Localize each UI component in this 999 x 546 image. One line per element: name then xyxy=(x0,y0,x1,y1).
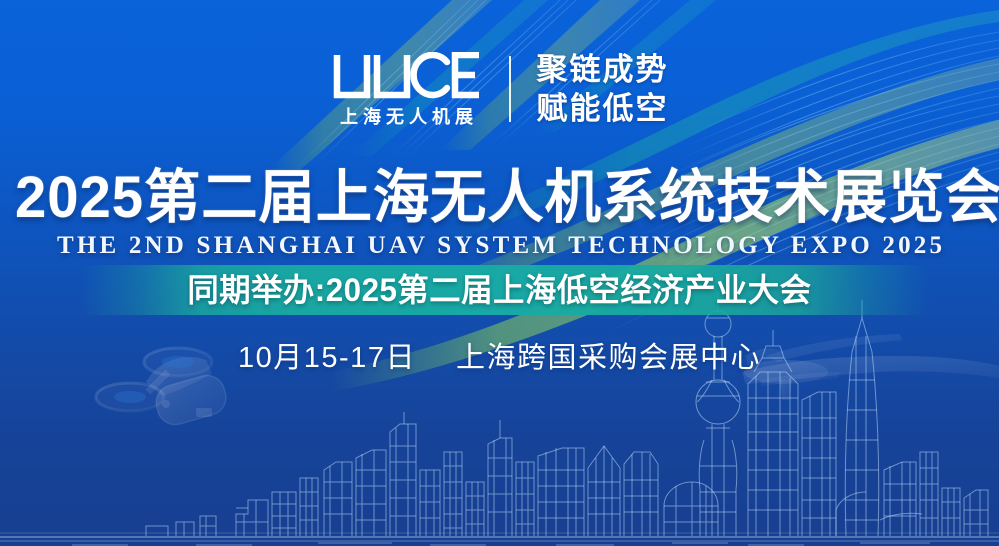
uuce-wordmark-icon xyxy=(331,52,483,104)
header-divider xyxy=(509,56,511,122)
event-banner: 上海无人机展 聚链成势 赋能低空 2025第二届上海无人机系统技术展览会 THE… xyxy=(0,0,999,546)
banner-header: 上海无人机展 聚链成势 赋能低空 xyxy=(0,52,999,127)
shanghai-skyline-lineart xyxy=(146,292,988,536)
concurrent-event-text: 同期举办:2025第二届上海低空经济产业大会 xyxy=(187,274,811,306)
event-title-english: THE 2ND SHANGHAI UAV SYSTEM TECHNOLOGY E… xyxy=(0,233,999,258)
waterfront-lines xyxy=(0,533,999,541)
tagline-line-1: 聚链成势 xyxy=(537,52,669,88)
title-block: 2025第二届上海无人机系统技术展览会 THE 2ND SHANGHAI UAV… xyxy=(0,168,999,258)
oriental-pearl-tower xyxy=(696,292,740,536)
event-title-chinese: 2025第二届上海无人机系统技术展览会 xyxy=(15,168,984,228)
event-logo: 上海无人机展 xyxy=(331,52,483,126)
tagline-line-2: 赋能低空 xyxy=(537,91,669,127)
event-meta: 10月15-17日 上海跨国采购会展中心 xyxy=(0,344,999,373)
water-reflections xyxy=(72,543,930,545)
event-venue: 上海跨国采购会展中心 xyxy=(456,344,761,373)
event-date: 10月15-17日 xyxy=(238,344,416,373)
event-tagline: 聚链成势 赋能低空 xyxy=(537,52,669,127)
logo-subtitle: 上海无人机展 xyxy=(335,108,478,126)
concurrent-event-band: 同期举办:2025第二届上海低空经济产业大会 xyxy=(0,265,999,315)
